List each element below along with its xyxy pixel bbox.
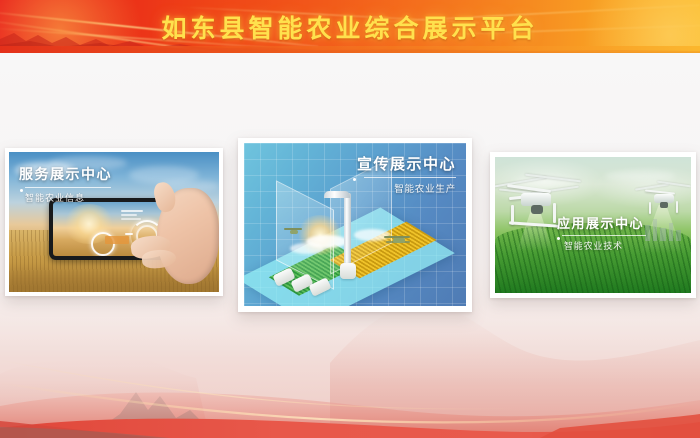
card-application-subtitle: 智能农业技术	[564, 239, 646, 252]
card-service-image: 服务展示中心 智能农业信息	[9, 152, 219, 292]
card-promotion-subtitle: 智能农业生产	[357, 181, 456, 195]
divider	[364, 177, 456, 178]
bullet-dot	[20, 189, 23, 192]
lamp-base	[340, 263, 356, 279]
card-promotion-text-block: 宣传展示中心 智能农业生产	[357, 153, 456, 195]
card-application-title: 应用展示中心	[557, 213, 646, 232]
card-application-text-block: 应用展示中心 智能农业技术	[557, 213, 646, 252]
divider	[25, 187, 111, 188]
drone-icon	[284, 227, 304, 235]
card-promotion-title: 宣传展示中心	[357, 153, 456, 174]
header-banner: 如东县智能农业综合展示平台	[0, 0, 700, 53]
card-application-display-center[interactable]: 应用展示中心 智能农业技术	[490, 152, 696, 298]
card-service-text-block: 服务展示中心 智能农业信息	[19, 164, 112, 204]
card-service-subtitle: 智能农业信息	[25, 191, 112, 204]
divider	[562, 235, 646, 236]
cloud-icon	[290, 243, 324, 254]
drone-icon	[635, 181, 691, 213]
display-platform-screen: 如东县智能农业综合展示平台	[0, 0, 700, 438]
card-promotion-image: 宣传展示中心 智能农业生产	[244, 143, 466, 306]
bullet-dot	[353, 178, 356, 181]
lamp-arm	[324, 191, 350, 198]
card-service-title: 服务展示中心	[19, 164, 112, 184]
page-title: 如东县智能农业综合展示平台	[0, 0, 700, 53]
bullet-dot	[557, 237, 560, 240]
card-service-display-center[interactable]: 服务展示中心 智能农业信息	[5, 148, 223, 296]
card-application-image: 应用展示中心 智能农业技术	[495, 157, 691, 293]
drone-icon	[384, 235, 414, 247]
card-promotion-display-center[interactable]: 宣传展示中心 智能农业生产	[238, 138, 472, 312]
cloud-icon	[605, 171, 675, 181]
